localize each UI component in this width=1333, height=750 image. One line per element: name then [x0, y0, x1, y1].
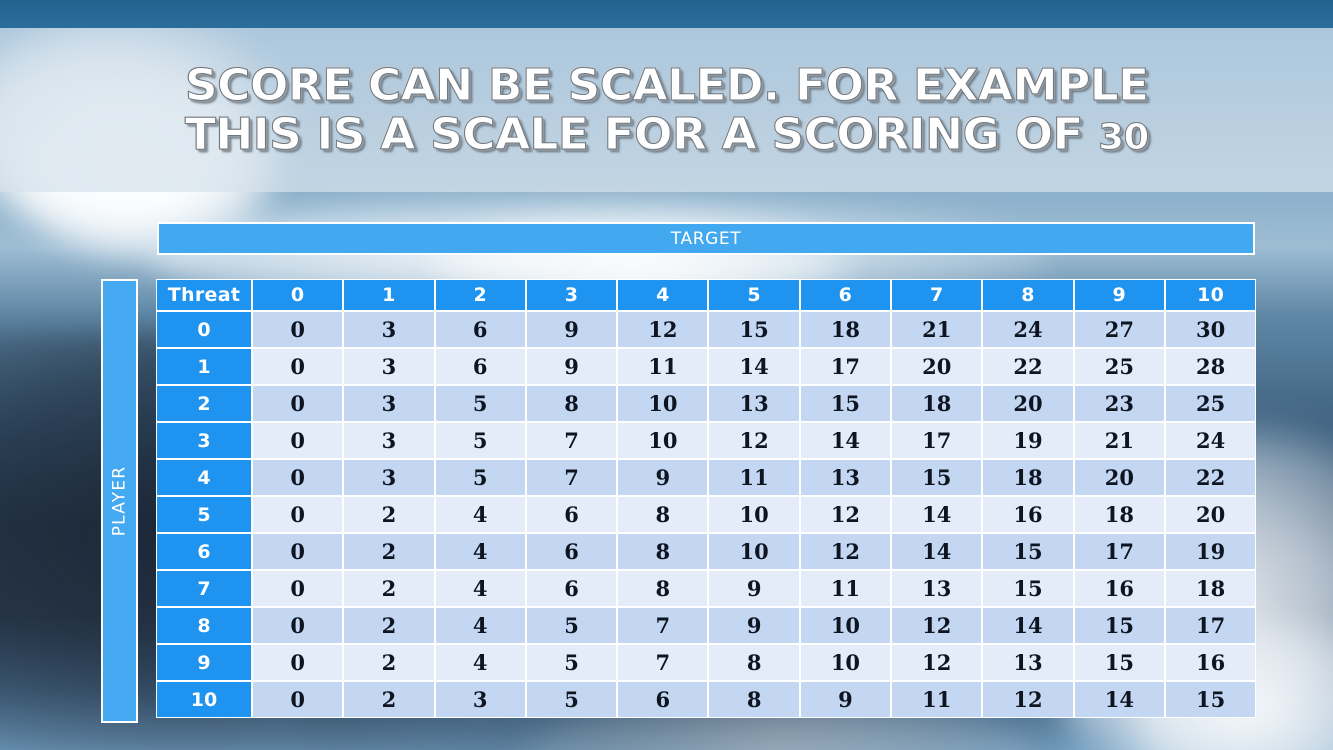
score-cell-r7-c4: 8 — [617, 570, 708, 607]
score-cell-r1-c3: 9 — [526, 348, 617, 385]
score-cell-r6-c3: 6 — [526, 533, 617, 570]
score-cell-r5-c10: 20 — [1165, 496, 1256, 533]
score-cell-r5-c8: 16 — [982, 496, 1073, 533]
score-cell-r4-c9: 20 — [1074, 459, 1165, 496]
row-header-8: 8 — [156, 607, 252, 644]
score-cell-r10-c7: 11 — [891, 681, 982, 718]
score-cell-r2-c3: 8 — [526, 385, 617, 422]
row-header-10: 10 — [156, 681, 252, 718]
score-cell-r10-c1: 2 — [343, 681, 434, 718]
score-cell-r4-c4: 9 — [617, 459, 708, 496]
column-header-1: 1 — [343, 279, 434, 311]
column-header-row: Threat 012345678910 — [156, 279, 1256, 311]
row-header-0: 0 — [156, 311, 252, 348]
score-cell-r3-c5: 12 — [708, 422, 799, 459]
score-cell-r0-c0: 0 — [252, 311, 343, 348]
score-cell-r5-c9: 18 — [1074, 496, 1165, 533]
top-rule-bar — [0, 0, 1333, 28]
score-cell-r9-c2: 4 — [435, 644, 526, 681]
score-cell-r6-c10: 19 — [1165, 533, 1256, 570]
score-cell-r2-c4: 10 — [617, 385, 708, 422]
score-cell-r8-c2: 4 — [435, 607, 526, 644]
score-cell-r1-c2: 6 — [435, 348, 526, 385]
score-cell-r3-c3: 7 — [526, 422, 617, 459]
column-header-3: 3 — [526, 279, 617, 311]
score-cell-r3-c9: 21 — [1074, 422, 1165, 459]
score-cell-r8-c0: 0 — [252, 607, 343, 644]
title-line-2: THIS IS A SCALE FOR A SCORING OF 30 — [185, 110, 1149, 159]
score-cell-r5-c4: 8 — [617, 496, 708, 533]
score-cell-r6-c4: 8 — [617, 533, 708, 570]
row-header-3: 3 — [156, 422, 252, 459]
slide-canvas: SCORE CAN BE SCALED. FOR EXAMPLE THIS IS… — [0, 0, 1333, 750]
score-cell-r0-c7: 21 — [891, 311, 982, 348]
score-cell-r0-c9: 27 — [1074, 311, 1165, 348]
score-cell-r0-c8: 24 — [982, 311, 1073, 348]
table-row: 10023568911121415 — [156, 681, 1256, 718]
title-line-1: SCORE CAN BE SCALED. FOR EXAMPLE — [185, 61, 1149, 110]
score-cell-r2-c10: 25 — [1165, 385, 1256, 422]
score-cell-r0-c10: 30 — [1165, 311, 1256, 348]
score-cell-r9-c0: 0 — [252, 644, 343, 681]
score-cell-r4-c2: 5 — [435, 459, 526, 496]
table-row: 80245791012141517 — [156, 607, 1256, 644]
score-cell-r0-c3: 9 — [526, 311, 617, 348]
row-header-1: 1 — [156, 348, 252, 385]
column-header-0: 0 — [252, 279, 343, 311]
score-cell-r3-c2: 5 — [435, 422, 526, 459]
table-row: 70246891113151618 — [156, 570, 1256, 607]
title-band: SCORE CAN BE SCALED. FOR EXAMPLE THIS IS… — [0, 28, 1333, 192]
row-header-9: 9 — [156, 644, 252, 681]
column-header-10: 10 — [1165, 279, 1256, 311]
row-header-2: 2 — [156, 385, 252, 422]
score-cell-r2-c8: 20 — [982, 385, 1073, 422]
score-cell-r8-c4: 7 — [617, 607, 708, 644]
score-cell-r0-c4: 12 — [617, 311, 708, 348]
score-cell-r1-c0: 0 — [252, 348, 343, 385]
score-cell-r6-c2: 4 — [435, 533, 526, 570]
score-cell-r2-c1: 3 — [343, 385, 434, 422]
score-cell-r7-c3: 6 — [526, 570, 617, 607]
score-cell-r10-c9: 14 — [1074, 681, 1165, 718]
column-header-9: 9 — [1074, 279, 1165, 311]
score-cell-r5-c1: 2 — [343, 496, 434, 533]
column-header-8: 8 — [982, 279, 1073, 311]
score-cell-r4-c8: 18 — [982, 459, 1073, 496]
score-cell-r6-c0: 0 — [252, 533, 343, 570]
score-cell-r8-c1: 2 — [343, 607, 434, 644]
score-cell-r5-c2: 4 — [435, 496, 526, 533]
score-cell-r2-c6: 15 — [800, 385, 891, 422]
score-cell-r9-c10: 16 — [1165, 644, 1256, 681]
score-cell-r3-c10: 24 — [1165, 422, 1256, 459]
score-cell-r3-c4: 10 — [617, 422, 708, 459]
corner-header-threat: Threat — [156, 279, 252, 311]
score-cell-r9-c6: 10 — [800, 644, 891, 681]
score-cell-r0-c6: 18 — [800, 311, 891, 348]
score-cell-r6-c9: 17 — [1074, 533, 1165, 570]
score-cell-r5-c6: 12 — [800, 496, 891, 533]
score-cell-r8-c6: 10 — [800, 607, 891, 644]
score-cell-r3-c6: 14 — [800, 422, 891, 459]
score-cell-r0-c2: 6 — [435, 311, 526, 348]
row-header-7: 7 — [156, 570, 252, 607]
score-table-body: 0036912151821242730103691114172022252820… — [156, 311, 1256, 718]
score-cell-r10-c2: 3 — [435, 681, 526, 718]
score-cell-r8-c9: 15 — [1074, 607, 1165, 644]
score-cell-r1-c4: 11 — [617, 348, 708, 385]
score-cell-r2-c9: 23 — [1074, 385, 1165, 422]
score-cell-r6-c5: 10 — [708, 533, 799, 570]
row-header-6: 6 — [156, 533, 252, 570]
table-row: 602468101214151719 — [156, 533, 1256, 570]
score-cell-r1-c7: 20 — [891, 348, 982, 385]
column-header-6: 6 — [800, 279, 891, 311]
score-table-wrapper: Threat 012345678910 00369121518212427301… — [156, 279, 1256, 718]
score-cell-r7-c6: 11 — [800, 570, 891, 607]
table-row: 3035710121417192124 — [156, 422, 1256, 459]
score-cell-r5-c3: 6 — [526, 496, 617, 533]
row-header-4: 4 — [156, 459, 252, 496]
title-line-2-text: THIS IS A SCALE FOR A SCORING OF — [185, 109, 1098, 160]
score-cell-r5-c7: 14 — [891, 496, 982, 533]
score-cell-r3-c8: 19 — [982, 422, 1073, 459]
score-cell-r9-c1: 2 — [343, 644, 434, 681]
score-cell-r7-c1: 2 — [343, 570, 434, 607]
score-cell-r7-c10: 18 — [1165, 570, 1256, 607]
score-cell-r1-c5: 14 — [708, 348, 799, 385]
score-cell-r7-c7: 13 — [891, 570, 982, 607]
title-scoring-number: 30 — [1098, 117, 1149, 158]
score-cell-r10-c4: 6 — [617, 681, 708, 718]
score-cell-r10-c5: 8 — [708, 681, 799, 718]
score-cell-r10-c0: 0 — [252, 681, 343, 718]
column-header-2: 2 — [435, 279, 526, 311]
score-cell-r9-c7: 12 — [891, 644, 982, 681]
score-cell-r9-c5: 8 — [708, 644, 799, 681]
score-cell-r7-c0: 0 — [252, 570, 343, 607]
table-row: 502468101214161820 — [156, 496, 1256, 533]
score-cell-r4-c7: 15 — [891, 459, 982, 496]
score-cell-r6-c7: 14 — [891, 533, 982, 570]
target-axis-label: TARGET — [671, 229, 741, 249]
score-cell-r3-c7: 17 — [891, 422, 982, 459]
table-row: 2035810131518202325 — [156, 385, 1256, 422]
score-cell-r8-c5: 9 — [708, 607, 799, 644]
score-cell-r6-c8: 15 — [982, 533, 1073, 570]
score-cell-r1-c10: 28 — [1165, 348, 1256, 385]
row-header-5: 5 — [156, 496, 252, 533]
score-cell-r0-c1: 3 — [343, 311, 434, 348]
score-cell-r4-c5: 11 — [708, 459, 799, 496]
score-cell-r9-c9: 15 — [1074, 644, 1165, 681]
player-axis-bar: PLAYER — [101, 279, 138, 723]
score-cell-r9-c3: 5 — [526, 644, 617, 681]
score-cell-r0-c5: 15 — [708, 311, 799, 348]
score-cell-r4-c1: 3 — [343, 459, 434, 496]
score-cell-r10-c10: 15 — [1165, 681, 1256, 718]
score-cell-r6-c1: 2 — [343, 533, 434, 570]
score-cell-r1-c6: 17 — [800, 348, 891, 385]
score-cell-r7-c5: 9 — [708, 570, 799, 607]
player-axis-label: PLAYER — [110, 466, 130, 537]
column-header-4: 4 — [617, 279, 708, 311]
score-cell-r9-c4: 7 — [617, 644, 708, 681]
score-cell-r5-c5: 10 — [708, 496, 799, 533]
score-cell-r8-c3: 5 — [526, 607, 617, 644]
table-row: 90245781012131516 — [156, 644, 1256, 681]
score-cell-r4-c6: 13 — [800, 459, 891, 496]
score-cell-r2-c5: 13 — [708, 385, 799, 422]
score-cell-r1-c1: 3 — [343, 348, 434, 385]
score-cell-r2-c2: 5 — [435, 385, 526, 422]
score-cell-r5-c0: 0 — [252, 496, 343, 533]
score-cell-r4-c3: 7 — [526, 459, 617, 496]
score-cell-r10-c3: 5 — [526, 681, 617, 718]
score-cell-r9-c8: 13 — [982, 644, 1073, 681]
score-table-head: Threat 012345678910 — [156, 279, 1256, 311]
score-cell-r2-c7: 18 — [891, 385, 982, 422]
score-cell-r1-c8: 22 — [982, 348, 1073, 385]
score-cell-r8-c7: 12 — [891, 607, 982, 644]
score-cell-r8-c10: 17 — [1165, 607, 1256, 644]
table-row: 0036912151821242730 — [156, 311, 1256, 348]
score-cell-r1-c9: 25 — [1074, 348, 1165, 385]
score-table: Threat 012345678910 00369121518212427301… — [156, 279, 1256, 718]
score-cell-r2-c0: 0 — [252, 385, 343, 422]
column-header-7: 7 — [891, 279, 982, 311]
score-cell-r10-c6: 9 — [800, 681, 891, 718]
score-cell-r7-c9: 16 — [1074, 570, 1165, 607]
score-cell-r6-c6: 12 — [800, 533, 891, 570]
score-cell-r3-c1: 3 — [343, 422, 434, 459]
score-cell-r10-c8: 12 — [982, 681, 1073, 718]
score-cell-r8-c8: 14 — [982, 607, 1073, 644]
score-cell-r7-c8: 15 — [982, 570, 1073, 607]
score-cell-r3-c0: 0 — [252, 422, 343, 459]
score-cell-r4-c0: 0 — [252, 459, 343, 496]
target-axis-bar: TARGET — [157, 222, 1255, 255]
column-header-5: 5 — [708, 279, 799, 311]
score-cell-r4-c10: 22 — [1165, 459, 1256, 496]
table-row: 403579111315182022 — [156, 459, 1256, 496]
score-cell-r7-c2: 4 — [435, 570, 526, 607]
table-row: 1036911141720222528 — [156, 348, 1256, 385]
